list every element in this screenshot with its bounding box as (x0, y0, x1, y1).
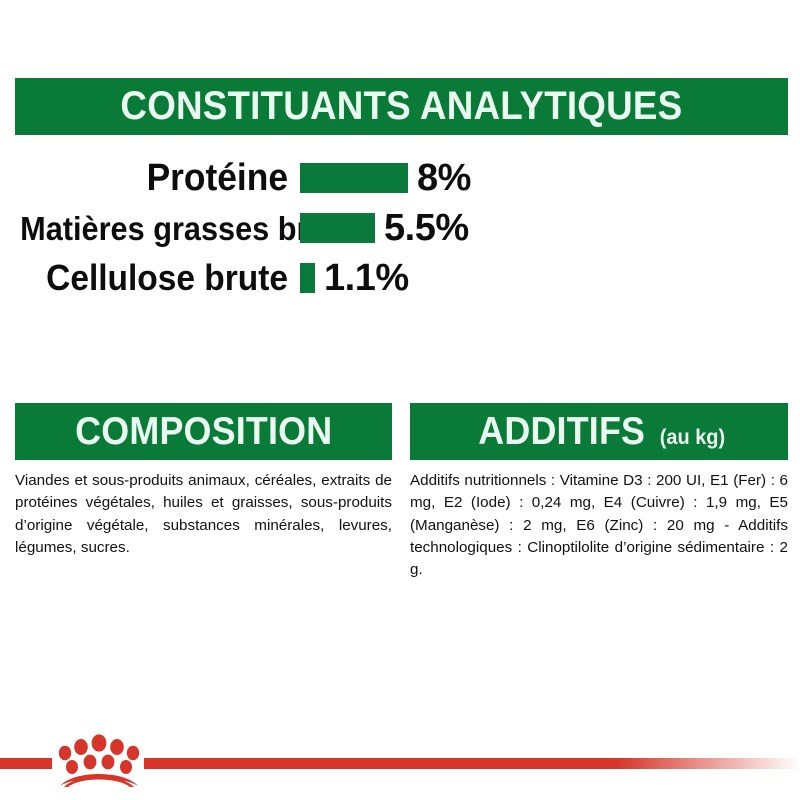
chart-row-label: Protéine (20, 159, 288, 197)
product-nutrition-panel: { "sections": { "analytical": { "title":… (0, 0, 800, 800)
chart-value-label: 1.1% (324, 259, 409, 297)
chart-bar (300, 213, 375, 243)
composition-title: COMPOSITION (75, 410, 332, 454)
footer-rule-left (0, 758, 52, 769)
chart-bar (300, 263, 315, 293)
composition-panel: COMPOSITION Viandes et sous-produits ani… (15, 403, 392, 559)
chart-bar-wrap: 8% (300, 163, 471, 193)
additifs-title-group: ADDITIFS (au kg) (471, 410, 726, 454)
chart-bar-wrap: 5.5% (300, 213, 469, 243)
brand-footer (0, 716, 800, 800)
composition-body-text: Viandes et sous-produits animaux, céréal… (15, 470, 392, 559)
chart-bar (300, 163, 408, 193)
chart-bar-wrap: 1.1% (300, 263, 409, 293)
additifs-body-text: Additifs nutritionnels : Vitamine D3 : 2… (410, 470, 788, 582)
additifs-title: ADDITIFS (479, 410, 646, 454)
composition-banner: COMPOSITION (15, 403, 392, 460)
additifs-subtitle: (au kg) (660, 426, 725, 450)
chart-row: Protéine 8% (0, 155, 800, 201)
additifs-banner: ADDITIFS (au kg) (410, 403, 788, 460)
chart-row: Cellulose brute 1.1% (0, 255, 800, 301)
analytical-constituents-chart: Protéine 8% Matières grasses brutes 5.5%… (0, 155, 800, 305)
chart-value-label: 5.5% (384, 209, 469, 247)
footer-rule-right (144, 758, 800, 769)
additifs-panel: ADDITIFS (au kg) Additifs nutritionnels … (410, 403, 788, 582)
royal-canin-crown-icon (56, 726, 142, 788)
chart-row-label: Cellulose brute (20, 260, 288, 296)
analytical-constituents-title: CONSTITUANTS ANALYTIQUES (121, 84, 683, 129)
chart-value-label: 8% (417, 159, 471, 197)
analytical-constituents-banner: CONSTITUANTS ANALYTIQUES (15, 78, 788, 135)
chart-row-label: Matières grasses brutes (20, 212, 288, 245)
chart-row: Matières grasses brutes 5.5% (0, 205, 800, 251)
